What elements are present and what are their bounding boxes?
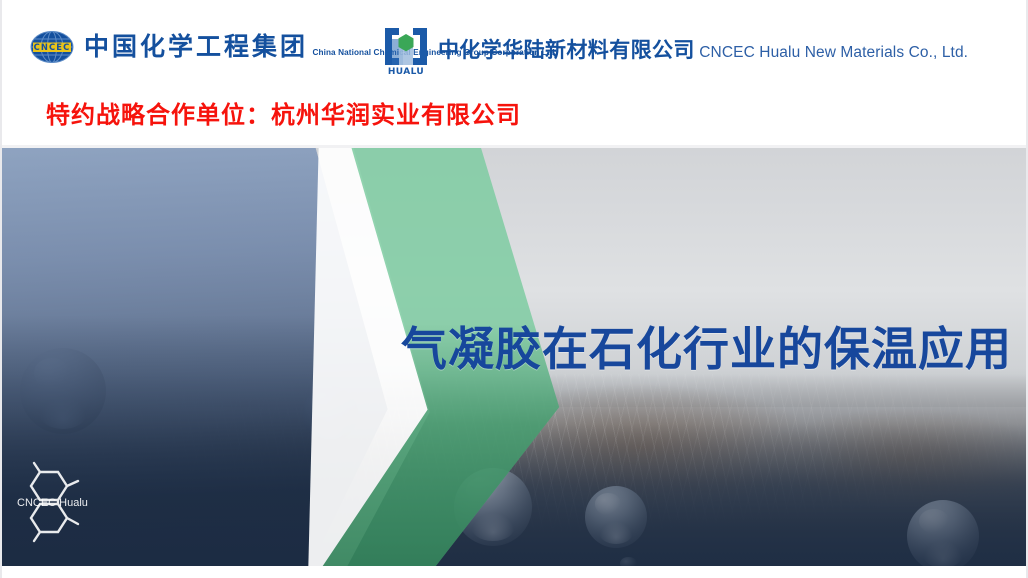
svg-text:HUALU: HUALU [388,67,424,76]
hexagon-molecule-icon: CNCEC Hualu [10,456,102,548]
hualu-english-name: CNCEC Hualu New Materials Co., Ltd. [699,44,968,61]
cncec-globe-icon: CNCEC [28,30,76,64]
slide-title: 气凝胶在石化行业的保温应用 [401,326,1012,372]
watermark-label: CNCEC Hualu [17,497,88,509]
strategic-partner-line: 特约战略合作单位：杭州华润实业有限公司 [46,95,521,130]
slide-header: CNCEC 中国化学工程集团 China National Chemical E… [2,0,1028,148]
hualu-company-logo: HUALU 中化学华陆新材料有限公司 CNCEC Hualu New Mater… [383,26,968,76]
presentation-slide: CNCEC 中国化学工程集团 China National Chemical E… [0,0,1028,578]
logo-row: CNCEC 中国化学工程集团 China National Chemical E… [2,22,1028,84]
hualu-bracket-hexagon-icon: HUALU [383,26,429,76]
hualu-chinese-name: 中化学华陆新材料有限公司 [438,38,695,62]
svg-text:CNCEC: CNCEC [34,42,71,52]
cncec-chinese-name: 中国化学工程集团 [84,32,308,61]
slide-footer-strip [2,566,1028,578]
hero-banner: 气凝胶在石化行业的保温应用 CNCEC Hualu [2,148,1028,566]
hualu-logo-text: 中化学华陆新材料有限公司 CNCEC Hualu New Materials C… [438,39,968,63]
